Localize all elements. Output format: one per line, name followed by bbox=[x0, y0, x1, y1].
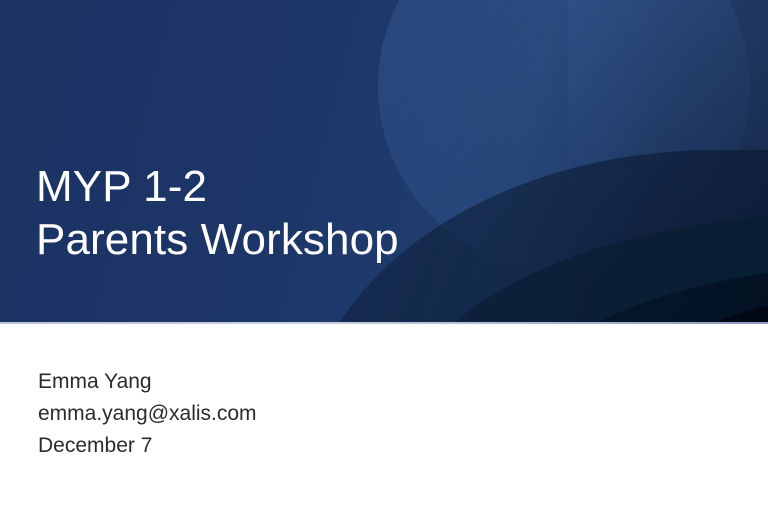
slide-title: MYP 1-2 Parents Workshop bbox=[36, 160, 399, 266]
presenter-email: emma.yang@xalis.com bbox=[38, 398, 257, 430]
slide-subtitle: Emma Yang emma.yang@xalis.com December 7 bbox=[38, 366, 257, 462]
banner-bottom-rule bbox=[0, 322, 768, 324]
presentation-date: December 7 bbox=[38, 430, 257, 462]
title-slide: MYP 1-2 Parents Workshop Emma Yang emma.… bbox=[0, 0, 768, 512]
title-line-2: Parents Workshop bbox=[36, 213, 399, 266]
title-line-1: MYP 1-2 bbox=[36, 160, 399, 213]
presenter-name: Emma Yang bbox=[38, 366, 257, 398]
